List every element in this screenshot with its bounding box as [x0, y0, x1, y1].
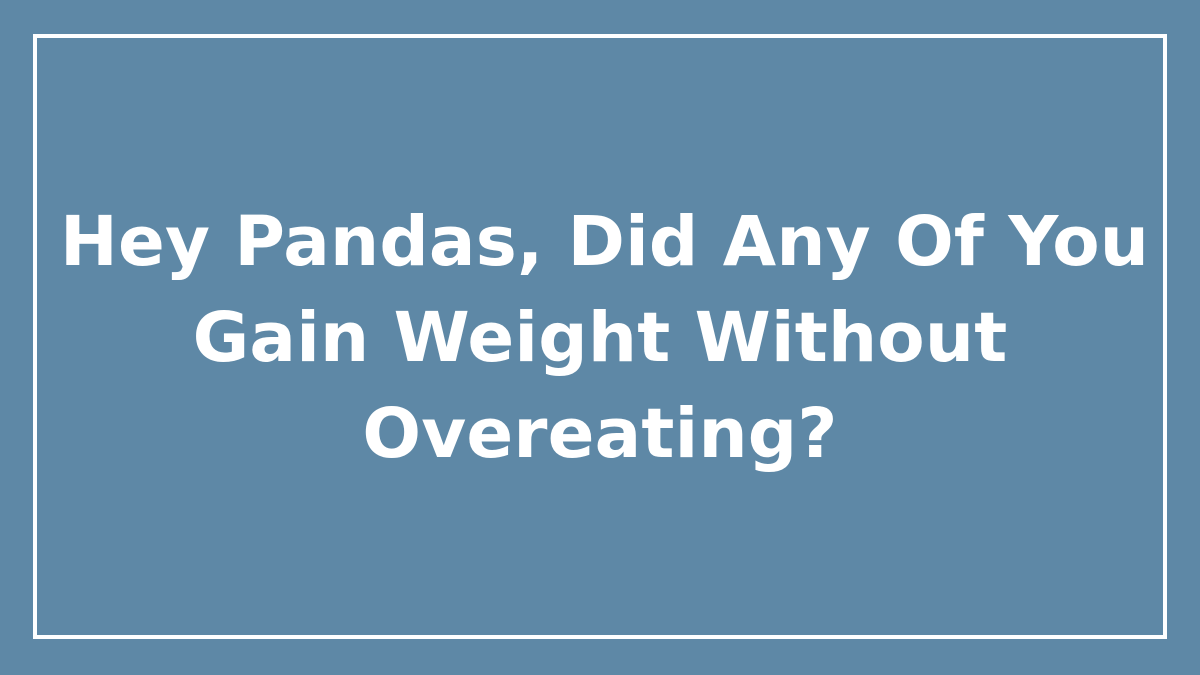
title-line-2: Gain Weight Without: [60, 290, 1140, 386]
title-line-1: Hey Pandas, Did Any Of You: [60, 194, 1140, 290]
page-title: Hey Pandas, Did Any Of You Gain Weight W…: [0, 0, 1200, 675]
title-line-3: Overeating?: [60, 386, 1140, 482]
title-card: Hey Pandas, Did Any Of You Gain Weight W…: [0, 0, 1200, 675]
